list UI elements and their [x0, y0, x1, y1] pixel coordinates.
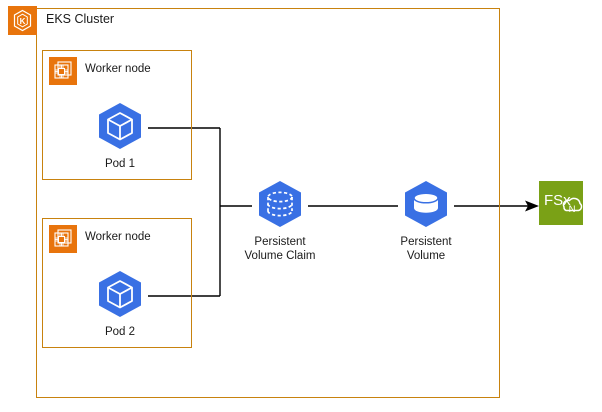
kubernetes-pod-icon [92, 268, 148, 324]
worker-node-1-label: Worker node [85, 63, 151, 75]
pod-2-label: Pod 2 [105, 326, 135, 340]
pv-label-line2: Volume [407, 250, 445, 262]
pv-label-line1: Persistent [400, 236, 451, 248]
worker-node-2-label: Worker node [85, 231, 151, 243]
kubernetes-pod-icon [92, 100, 148, 156]
worker-node-icon [49, 225, 77, 253]
persistent-volume-icon [398, 178, 454, 234]
eks-cluster-icon: K [8, 6, 37, 35]
persistent-volume-claim-label: Persistent Volume Claim [245, 236, 316, 263]
pod-1: Pod 1 [92, 100, 148, 156]
svg-text:K: K [20, 17, 26, 26]
pod-1-label: Pod 1 [105, 158, 135, 172]
amazon-fsx-netapp-ontap-icon: FSx N [539, 181, 583, 225]
arrowhead-icon [525, 201, 539, 212]
pvc-label-line1: Persistent [254, 236, 305, 248]
persistent-volume-node: Persistent Volume [398, 178, 454, 234]
pod-2: Pod 2 [92, 268, 148, 324]
persistent-volume-claim-node: Persistent Volume Claim [252, 178, 308, 234]
fsx-ontap-n-glyph: N [569, 204, 576, 215]
amazon-fsx-netapp-ontap-node: FSx N [539, 181, 583, 225]
persistent-volume-claim-icon [252, 178, 308, 234]
diagram-canvas: K EKS Cluster Worker [0, 0, 602, 412]
persistent-volume-label: Persistent Volume [400, 236, 451, 263]
worker-node-icon [49, 57, 77, 85]
eks-cluster-label: EKS Cluster [46, 12, 114, 26]
pvc-label-line2: Volume Claim [245, 250, 316, 262]
